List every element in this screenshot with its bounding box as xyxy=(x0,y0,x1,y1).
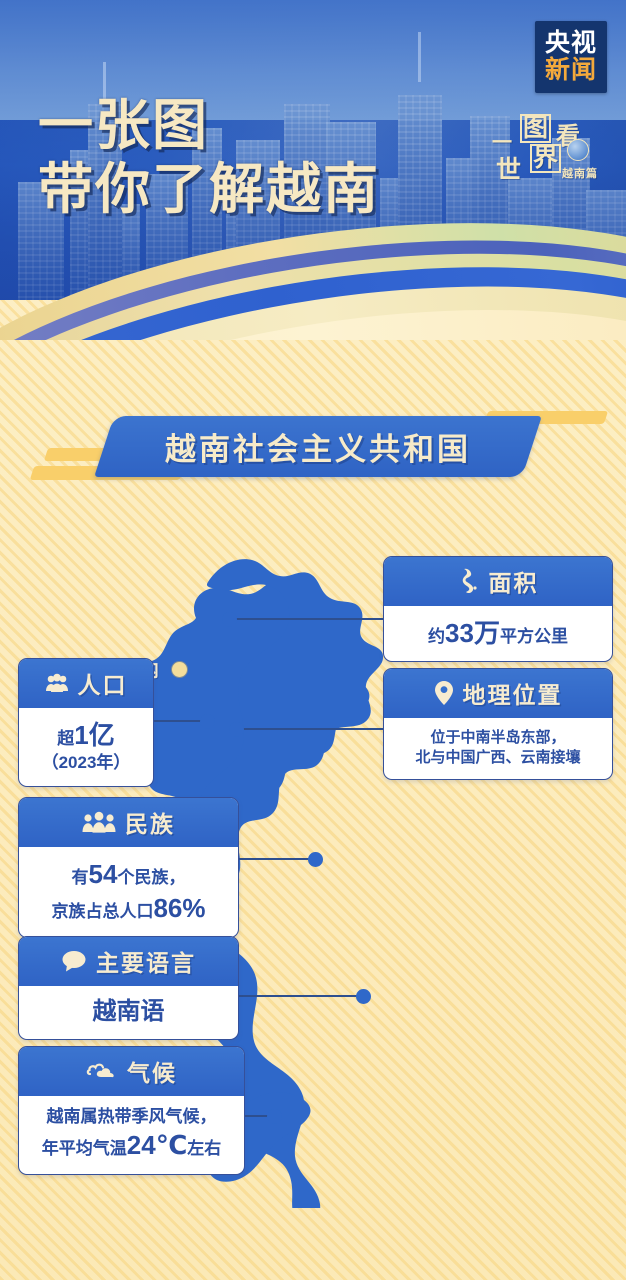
card-population-header: 人口 xyxy=(19,659,153,708)
card-language-body: 越南语 xyxy=(19,986,238,1039)
card-geography-body: 位于中南半岛东部， 北与中国广西、云南接壤 xyxy=(384,718,612,779)
card-population-prefix: 超 xyxy=(57,729,74,748)
card-geography-line-1: 位于中南半岛东部， xyxy=(398,728,598,748)
ethnic-prefix: 有 xyxy=(72,868,89,887)
speech-bubble-icon xyxy=(61,950,87,972)
connector-dot-pop xyxy=(200,714,215,729)
connector-area xyxy=(229,618,383,620)
connector-dot-climate xyxy=(267,1109,282,1124)
card-language-title: 主要语言 xyxy=(96,944,196,978)
climate-temp-prefix: 年平均气温 xyxy=(42,1139,127,1158)
three-people-icon xyxy=(82,811,116,833)
card-geography-line-2: 北与中国广西、云南接壤 xyxy=(398,748,598,768)
card-language-value: 越南语 xyxy=(33,996,224,1028)
connector-geo xyxy=(236,728,383,730)
cloud-icon xyxy=(86,1060,118,1082)
hero-title-line2: 带你了解越南 xyxy=(38,160,380,218)
banner-title: 越南社会主义共和国 xyxy=(104,416,532,477)
stamp-char-2: 图 xyxy=(520,114,551,143)
vietnam-map-icon xyxy=(458,567,480,595)
card-language[interactable]: 主要语言 越南语 xyxy=(18,936,239,1040)
card-area-line-1: 约33万平方公里 xyxy=(398,616,598,650)
connector-dot-area xyxy=(222,612,237,627)
location-pin-icon xyxy=(434,680,454,706)
stamp-char-5: 界 xyxy=(530,144,561,173)
stamp-subtitle: 越南篇 xyxy=(562,165,598,181)
climate-temp-value: 24℃ xyxy=(127,1130,187,1160)
card-ethnic-groups-header: 民族 xyxy=(19,798,238,847)
card-climate-body: 越南属热带季风气候， 年平均气温24℃左右 xyxy=(19,1096,244,1174)
card-ethnic-groups-title: 民族 xyxy=(125,805,175,839)
infographic-page: 一张图 带你了解越南 央视 新闻 一 图 看 世 界 越南篇 越南社会主义共和国 xyxy=(0,0,626,1280)
series-stamp-logo: 一 图 看 世 界 越南篇 xyxy=(490,110,598,188)
hero-banner: 一张图 带你了解越南 央视 新闻 一 图 看 世 界 越南篇 xyxy=(0,0,626,340)
card-climate-title: 气候 xyxy=(127,1054,177,1088)
connector-language xyxy=(237,995,364,997)
card-population-year: （2023年） xyxy=(33,752,139,774)
card-climate-line-2: 年平均气温24℃左右 xyxy=(33,1128,230,1162)
card-area-prefix: 约 xyxy=(428,627,445,646)
card-ethnic-groups-line-1: 有54个民族， xyxy=(33,857,224,891)
card-climate-header: 气候 xyxy=(19,1047,244,1096)
card-ethnic-groups[interactable]: 民族 有54个民族， 京族占总人口86% xyxy=(18,797,239,938)
card-area[interactable]: 面积 约33万平方公里 xyxy=(383,556,613,662)
card-climate-line-1: 越南属热带季风气候， xyxy=(33,1106,230,1128)
people-group-icon xyxy=(45,673,69,693)
card-population-title: 人口 xyxy=(78,666,128,700)
stamp-char-4: 世 xyxy=(496,150,521,186)
card-area-body: 约33万平方公里 xyxy=(384,606,612,661)
globe-icon xyxy=(567,139,589,161)
section-banner: 越南社会主义共和国 xyxy=(0,404,626,482)
card-population-body: 超1亿 （2023年） xyxy=(19,708,153,786)
card-climate[interactable]: 气候 越南属热带季风气候， 年平均气温24℃左右 xyxy=(18,1046,245,1175)
hero-title-line1: 一张图 xyxy=(38,96,380,154)
connector-dot-geo xyxy=(229,722,244,737)
card-geography-title: 地理位置 xyxy=(463,676,563,710)
kinh-percent: 86% xyxy=(153,893,205,923)
connector-pop xyxy=(152,720,207,722)
capital-marker-dot xyxy=(172,662,187,677)
cctv-news-logo: 央视 新闻 xyxy=(535,21,607,93)
card-ethnic-groups-body: 有54个民族， 京族占总人口86% xyxy=(19,847,238,937)
card-geography-header: 地理位置 xyxy=(384,669,612,718)
connector-dot-ethnic xyxy=(308,852,323,867)
card-ethnic-groups-line-2: 京族占总人口86% xyxy=(33,891,224,925)
page-title: 一张图 带你了解越南 xyxy=(38,96,380,219)
logo-text-bottom: 新闻 xyxy=(545,57,597,84)
card-population-value: 1亿 xyxy=(74,720,114,750)
card-language-header: 主要语言 xyxy=(19,937,238,986)
connector-dot-language xyxy=(356,989,371,1004)
card-area-title: 面积 xyxy=(489,564,539,598)
card-population-line-1: 超1亿 xyxy=(33,718,139,752)
card-area-value: 33万 xyxy=(445,618,500,648)
card-population[interactable]: 人口 超1亿 （2023年） xyxy=(18,658,154,787)
card-geography[interactable]: 地理位置 位于中南半岛东部， 北与中国广西、云南接壤 xyxy=(383,668,613,780)
card-area-unit: 平方公里 xyxy=(500,627,568,646)
connector-ethnic xyxy=(237,858,316,860)
logo-text-top: 央视 xyxy=(545,30,597,57)
kinh-prefix: 京族占总人口 xyxy=(51,902,153,921)
ethnic-count: 54 xyxy=(89,859,118,889)
card-area-header: 面积 xyxy=(384,557,612,606)
climate-temp-suffix: 左右 xyxy=(187,1139,221,1158)
ethnic-suffix: 个民族， xyxy=(117,868,185,887)
